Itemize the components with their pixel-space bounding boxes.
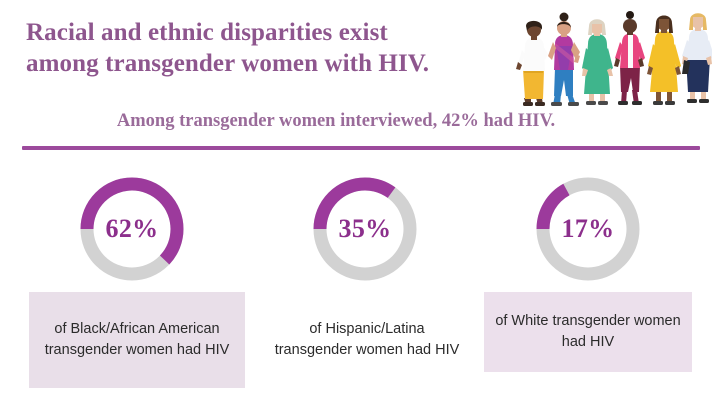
woman-figure-5: [647, 16, 681, 106]
caption-hispanic-latina: of Hispanic/Latina transgender women had…: [264, 292, 470, 388]
header-divider: [22, 146, 700, 150]
page-title: Racial and ethnic disparities exist amon…: [26, 17, 506, 79]
donut-chart-hispanic-latina: 35%: [305, 170, 425, 288]
donut-1-value: 62%: [76, 173, 188, 285]
page-title-line-2: among transgender women with HIV.: [26, 48, 506, 79]
donut-2: 35%: [309, 173, 421, 285]
woman-figure-3: [582, 19, 613, 105]
caption-2-text: of Hispanic/Latina transgender women had…: [272, 319, 462, 361]
header: Racial and ethnic disparities exist amon…: [0, 0, 720, 148]
page-title-line-1: Racial and ethnic disparities exist: [26, 19, 388, 46]
infographic-canvas: Racial and ethnic disparities exist amon…: [0, 0, 720, 404]
woman-figure-6: [682, 13, 712, 103]
woman-figure-4: [614, 11, 645, 105]
woman-figure-1: [516, 21, 548, 106]
caption-black-african-american: of Black/African American transgender wo…: [29, 292, 245, 388]
woman-figure-2: [548, 13, 580, 107]
donut-3: 17%: [532, 173, 644, 285]
caption-1-text: of Black/African American transgender wo…: [37, 319, 237, 361]
six-transgender-women-illustration: [512, 2, 712, 110]
subtitle: Among transgender women interviewed, 42%…: [26, 110, 686, 132]
donut-2-value: 35%: [309, 173, 421, 285]
donut-chart-group: 62% 35% 17%: [0, 170, 720, 290]
donut-chart-white: 17%: [528, 170, 648, 288]
caption-white: of White transgender women had HIV: [484, 292, 692, 372]
caption-3-text: of White transgender women had HIV: [492, 311, 684, 353]
donut-3-value: 17%: [532, 173, 644, 285]
caption-group: of Black/African American transgender wo…: [0, 292, 720, 400]
donut-chart-black-african-american: 62%: [72, 170, 192, 288]
donut-1: 62%: [76, 173, 188, 285]
